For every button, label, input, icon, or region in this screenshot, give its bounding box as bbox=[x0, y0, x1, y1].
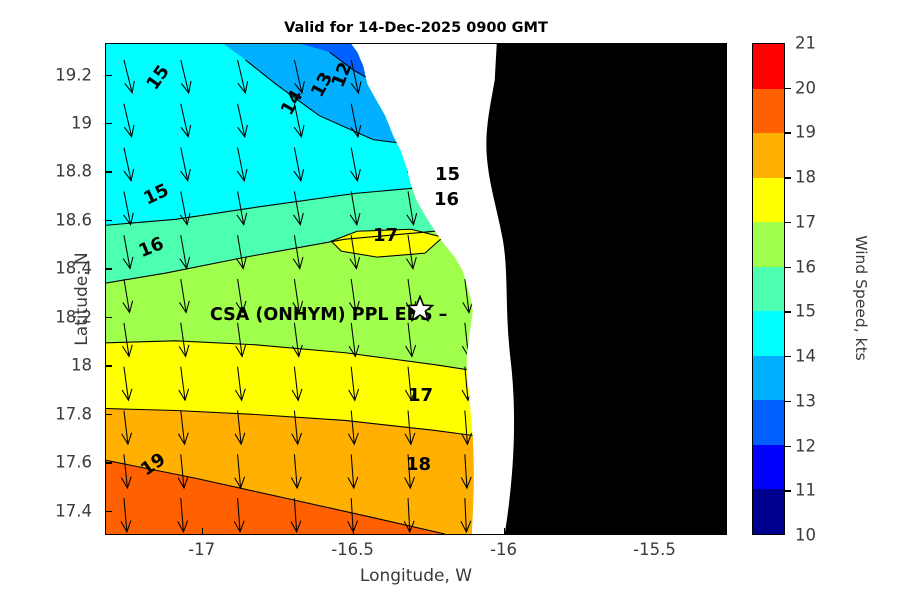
colorbar-tick-mark bbox=[785, 132, 791, 133]
x-tick-mark bbox=[655, 528, 657, 535]
colorbar-segment bbox=[753, 89, 784, 134]
x-tick-label: -17 bbox=[157, 540, 247, 559]
colorbar-tick-mark bbox=[785, 446, 791, 447]
colorbar-segment bbox=[753, 133, 784, 178]
chart-title: Valid for 14-Dec-2025 0900 GMT bbox=[105, 20, 727, 36]
colorbar-tick-label: 13 bbox=[795, 391, 816, 410]
y-tick-mark bbox=[105, 268, 112, 270]
y-tick-mark bbox=[105, 462, 112, 464]
colorbar-tick-label: 16 bbox=[795, 257, 816, 276]
colorbar-segment bbox=[753, 489, 784, 534]
y-tick-mark bbox=[105, 123, 112, 125]
colorbar-tick-mark bbox=[785, 311, 791, 312]
x-tick-mark bbox=[202, 528, 204, 535]
colorbar-tick-label: 19 bbox=[795, 123, 816, 142]
y-tick-label: 17.6 bbox=[20, 453, 92, 472]
colorbar-tick-mark bbox=[785, 490, 791, 491]
y-tick-mark bbox=[105, 171, 112, 173]
y-tick-mark bbox=[105, 75, 112, 77]
colorbar-tick-label: 15 bbox=[795, 302, 816, 321]
colorbar-tick-mark bbox=[785, 177, 791, 178]
colorbar-tick-mark bbox=[785, 88, 791, 89]
colorbar-tick-label: 17 bbox=[795, 212, 816, 231]
colorbar-tick-mark bbox=[785, 401, 791, 402]
colorbar-tick-label: 14 bbox=[795, 347, 816, 366]
y-tick-label: 18 bbox=[20, 356, 92, 375]
colorbar-tick-mark bbox=[785, 356, 791, 357]
x-tick-label: -16.5 bbox=[308, 540, 398, 559]
x-tick-mark bbox=[353, 528, 355, 535]
map-plot-area[interactable]: 15 14 13 12 15 16 15 16 17 17 18 19 CSA … bbox=[105, 43, 727, 535]
contour-label-17-south: 17 bbox=[408, 387, 433, 405]
x-tick-label: -16 bbox=[459, 540, 549, 559]
colorbar-tick-label: 12 bbox=[795, 436, 816, 455]
colorbar-tick-label: 10 bbox=[795, 526, 816, 545]
y-tick-label: 18.6 bbox=[20, 210, 92, 229]
colorbar-segment bbox=[753, 267, 784, 312]
colorbar-segment bbox=[753, 311, 784, 356]
colorbar-tick-label: 20 bbox=[795, 78, 816, 97]
colorbar-tick-label: 21 bbox=[795, 34, 816, 53]
colorbar-segment bbox=[753, 400, 784, 445]
contour-label-16-e: 16 bbox=[434, 191, 459, 209]
y-tick-label: 17.8 bbox=[20, 404, 92, 423]
colorbar-title: Wind Speed, kts bbox=[852, 178, 870, 418]
star-marker[interactable] bbox=[406, 295, 434, 323]
y-tick-mark bbox=[105, 414, 112, 416]
colorbar[interactable] bbox=[752, 43, 785, 535]
y-tick-label: 19 bbox=[20, 113, 92, 132]
x-tick-label: -15.5 bbox=[610, 540, 700, 559]
y-tick-mark bbox=[105, 511, 112, 513]
y-tick-label: 17.4 bbox=[20, 501, 92, 520]
colorbar-tick-label: 18 bbox=[795, 168, 816, 187]
colorbar-tick-label: 11 bbox=[795, 481, 816, 500]
y-tick-mark bbox=[105, 317, 112, 319]
y-tick-label: 18.8 bbox=[20, 162, 92, 181]
colorbar-segment bbox=[753, 178, 784, 223]
colorbar-segment bbox=[753, 445, 784, 490]
y-tick-mark bbox=[105, 220, 112, 222]
x-axis-label: Longitude, W bbox=[105, 566, 727, 586]
wind-speed-forecast-map: Valid for 14-Dec-2025 0900 GMT bbox=[0, 0, 900, 600]
contour-label-15-e: 15 bbox=[435, 166, 460, 184]
colorbar-tick-mark bbox=[785, 267, 791, 268]
contour-label-18: 18 bbox=[406, 456, 431, 474]
colorbar-segment bbox=[753, 356, 784, 401]
y-tick-label: 18.4 bbox=[20, 259, 92, 278]
y-tick-label: 18.2 bbox=[20, 307, 92, 326]
land-mask bbox=[486, 44, 726, 534]
colorbar-segment bbox=[753, 44, 784, 89]
y-tick-label: 19.2 bbox=[20, 65, 92, 84]
colorbar-segment bbox=[753, 222, 784, 267]
colorbar-tick-mark bbox=[785, 222, 791, 223]
contour-label-17-center: 17 bbox=[373, 227, 398, 245]
y-tick-mark bbox=[105, 365, 112, 367]
x-tick-mark bbox=[504, 528, 506, 535]
